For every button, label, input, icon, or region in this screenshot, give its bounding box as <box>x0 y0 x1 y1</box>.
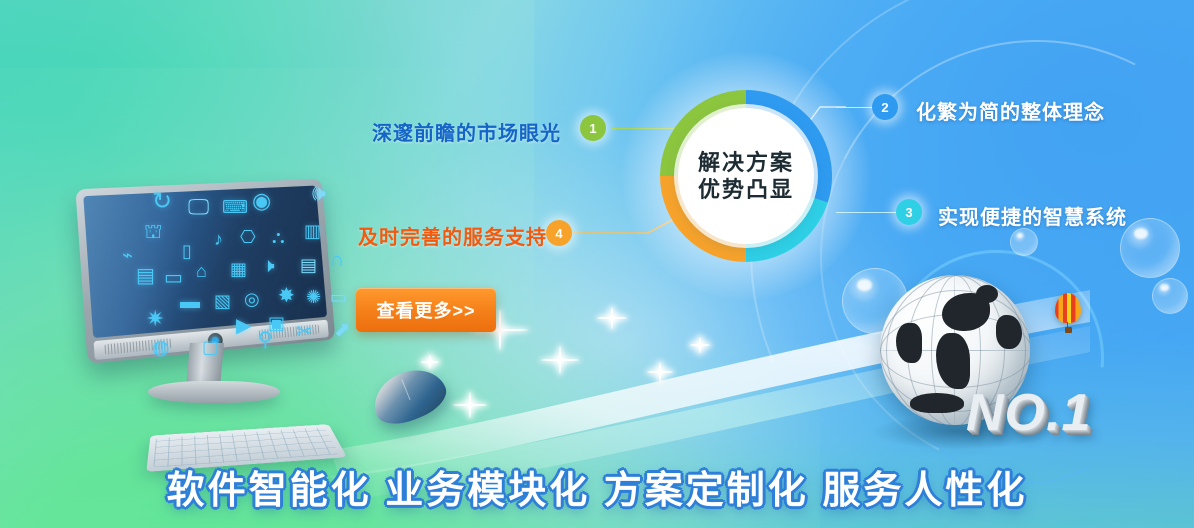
continent-greenland <box>976 285 998 303</box>
feature-badge-3-number: 3 <box>905 205 912 220</box>
feature-label-4: 及时完善的服务支持 <box>358 221 547 250</box>
donut-center-line-2: 优势凸显 <box>698 176 794 204</box>
balloon-basket <box>1065 327 1072 333</box>
hot-air-balloon-icon <box>1055 293 1081 333</box>
monitor-screen <box>83 186 327 339</box>
feature-badge-4[interactable]: 4 <box>546 220 572 246</box>
feature-badge-3[interactable]: 3 <box>896 199 922 225</box>
promo-banner: ↻ 🖵 ⌨ ◉ 🕪 ⛫ ⌁ ▯ ♪ ⎔ ⛬ ▥ ▤ ▭ ⌂ ▦ 🕨 ▤ ∩ ▬ … <box>0 0 1194 528</box>
monitor-bezel <box>75 179 335 364</box>
feature-badge-4-number: 4 <box>555 226 562 241</box>
donut-center-line-1: 解决方案 <box>698 149 794 177</box>
bubble <box>1010 228 1038 256</box>
balloon-envelope <box>1055 293 1081 323</box>
globe-graphic: NO.1 <box>880 275 1060 465</box>
bottom-tagline: 软件智能化 业务模块化 方案定制化 服务人性化 <box>0 459 1194 514</box>
continent-east <box>996 315 1022 349</box>
continent-antarctic <box>910 393 964 413</box>
view-more-button[interactable]: 查看更多>> <box>356 288 496 332</box>
speaker-grill-icon <box>104 338 171 355</box>
feature-badge-2[interactable]: 2 <box>872 94 898 120</box>
monitor-base <box>148 381 280 403</box>
donut-center-label: 解决方案 优势凸显 <box>678 108 814 244</box>
monitor-graphic <box>70 175 360 425</box>
no1-text: NO.1 <box>966 383 1091 443</box>
feature-label-1: 深邃前瞻的市场眼光 <box>372 117 561 146</box>
feature-badge-2-number: 2 <box>881 100 888 115</box>
continent-africa <box>896 323 922 363</box>
feature-badge-1-number: 1 <box>589 121 596 136</box>
speaker-grill-icon <box>259 324 320 339</box>
bubble <box>1120 218 1180 278</box>
feature-label-3: 实现便捷的智慧系统 <box>938 201 1127 230</box>
solution-donut-chart: 解决方案 优势凸显 <box>648 78 844 274</box>
bubble <box>1152 278 1188 314</box>
feature-badge-1[interactable]: 1 <box>580 115 606 141</box>
feature-label-2: 化繁为简的整体理念 <box>916 96 1105 125</box>
